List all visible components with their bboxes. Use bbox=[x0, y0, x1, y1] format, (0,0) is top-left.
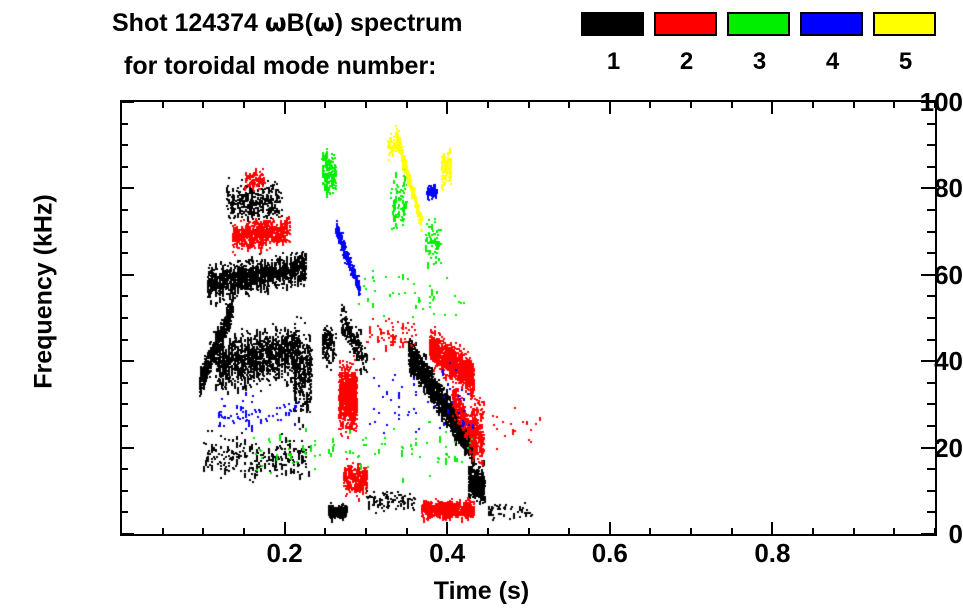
x-tick-minor-top bbox=[528, 100, 530, 108]
y-tick-minor bbox=[120, 231, 128, 233]
y-tick-minor bbox=[120, 209, 128, 211]
x-tick-minor-top bbox=[690, 100, 692, 108]
y-tick-major-80 bbox=[120, 187, 134, 189]
y-tick-major-20 bbox=[120, 447, 134, 449]
x-tick-minor-top bbox=[893, 100, 895, 108]
y-tick-minor-right bbox=[927, 166, 935, 168]
y-tick-major-0 bbox=[120, 533, 134, 535]
x-axis-label: Time (s) bbox=[0, 577, 963, 606]
y-tick-minor-right bbox=[927, 231, 935, 233]
x-tick-minor bbox=[162, 528, 164, 536]
x-tick-major-top-0.2 bbox=[284, 100, 286, 114]
legend-swatch-1 bbox=[581, 12, 644, 36]
y-tick-minor-right bbox=[927, 123, 935, 125]
x-tick-minor-top bbox=[202, 100, 204, 108]
x-tick-minor-top bbox=[934, 100, 936, 108]
x-tick-minor bbox=[528, 528, 530, 536]
legend-swatch-3 bbox=[727, 12, 790, 36]
spectrogram-plot bbox=[122, 102, 935, 534]
x-tick-major-top-0.6 bbox=[609, 100, 611, 114]
y-tick-minor bbox=[120, 382, 128, 384]
y-tick-major-100 bbox=[120, 101, 134, 103]
y-tick-major-60 bbox=[120, 274, 134, 276]
legend-entry-2: 2 bbox=[654, 12, 719, 74]
x-tick-minor-top bbox=[487, 100, 489, 108]
x-tick-label-0.6: 0.6 bbox=[565, 540, 655, 566]
legend-swatch-5 bbox=[873, 12, 936, 36]
mode-number-legend: 12345 bbox=[0, 0, 963, 95]
x-tick-major-top-0.8 bbox=[771, 100, 773, 114]
x-tick-minor bbox=[487, 528, 489, 536]
legend-swatch-2 bbox=[654, 12, 717, 36]
x-tick-minor bbox=[568, 528, 570, 536]
x-tick-major-0.4 bbox=[446, 522, 448, 536]
y-tick-minor-right bbox=[927, 490, 935, 492]
y-tick-label-100: 100 bbox=[855, 89, 963, 115]
y-tick-minor bbox=[120, 339, 128, 341]
y-tick-major-40 bbox=[120, 360, 134, 362]
legend-entry-3: 3 bbox=[727, 12, 792, 74]
x-tick-minor bbox=[202, 528, 204, 536]
x-tick-major-0.8 bbox=[771, 522, 773, 536]
y-tick-minor-right bbox=[927, 317, 935, 319]
x-tick-minor bbox=[649, 528, 651, 536]
x-tick-minor bbox=[365, 528, 367, 536]
x-tick-minor bbox=[731, 528, 733, 536]
x-tick-minor-top bbox=[324, 100, 326, 108]
legend-label-2: 2 bbox=[654, 50, 719, 74]
x-tick-minor-top bbox=[568, 100, 570, 108]
x-tick-label-0.2: 0.2 bbox=[240, 540, 330, 566]
x-tick-minor bbox=[324, 528, 326, 536]
y-tick-label-20: 20 bbox=[855, 435, 963, 461]
x-tick-minor-top bbox=[853, 100, 855, 108]
x-tick-minor bbox=[243, 528, 245, 536]
legend-entry-1: 1 bbox=[581, 12, 646, 74]
y-tick-minor-right bbox=[927, 252, 935, 254]
legend-entry-4: 4 bbox=[800, 12, 865, 74]
legend-label-3: 3 bbox=[727, 50, 792, 74]
legend-swatch-4 bbox=[800, 12, 863, 36]
x-tick-minor bbox=[812, 528, 814, 536]
x-tick-minor bbox=[406, 528, 408, 536]
y-tick-minor bbox=[120, 490, 128, 492]
y-tick-minor bbox=[120, 425, 128, 427]
x-tick-major-top-0.4 bbox=[446, 100, 448, 114]
y-tick-minor bbox=[120, 468, 128, 470]
x-tick-major-0.6 bbox=[609, 522, 611, 536]
x-tick-minor-top bbox=[731, 100, 733, 108]
x-tick-minor-top bbox=[406, 100, 408, 108]
y-tick-minor bbox=[120, 252, 128, 254]
x-tick-label-0.4: 0.4 bbox=[402, 540, 492, 566]
x-tick-minor bbox=[893, 528, 895, 536]
y-tick-label-80: 80 bbox=[855, 175, 963, 201]
legend-label-1: 1 bbox=[581, 50, 646, 74]
y-tick-label-0: 0 bbox=[855, 521, 963, 547]
x-tick-minor-top bbox=[812, 100, 814, 108]
y-tick-minor-right bbox=[927, 425, 935, 427]
y-tick-minor-right bbox=[927, 144, 935, 146]
axis-frame-right bbox=[935, 100, 937, 536]
x-tick-minor-top bbox=[162, 100, 164, 108]
x-tick-minor-top bbox=[243, 100, 245, 108]
x-tick-label-0.8: 0.8 bbox=[727, 540, 817, 566]
y-tick-minor-right bbox=[927, 382, 935, 384]
y-tick-minor bbox=[120, 295, 128, 297]
y-tick-minor-right bbox=[927, 403, 935, 405]
y-axis-label: Frequency (kHz) bbox=[30, 72, 59, 512]
legend-label-5: 5 bbox=[873, 50, 938, 74]
legend-label-4: 4 bbox=[800, 50, 865, 74]
y-tick-minor bbox=[120, 403, 128, 405]
y-tick-minor-right bbox=[927, 339, 935, 341]
y-tick-minor bbox=[120, 144, 128, 146]
y-tick-label-60: 60 bbox=[855, 262, 963, 288]
x-tick-minor-top bbox=[365, 100, 367, 108]
x-tick-minor bbox=[853, 528, 855, 536]
x-tick-minor bbox=[690, 528, 692, 536]
legend-entry-5: 5 bbox=[873, 12, 938, 74]
y-tick-minor bbox=[120, 123, 128, 125]
y-tick-minor-right bbox=[927, 511, 935, 513]
x-tick-major-0.2 bbox=[284, 522, 286, 536]
y-tick-minor-right bbox=[927, 209, 935, 211]
y-tick-minor bbox=[120, 166, 128, 168]
y-tick-minor-right bbox=[927, 468, 935, 470]
y-tick-minor bbox=[120, 317, 128, 319]
y-tick-minor-right bbox=[927, 295, 935, 297]
y-tick-minor bbox=[120, 511, 128, 513]
y-tick-label-40: 40 bbox=[855, 348, 963, 374]
x-tick-minor bbox=[934, 528, 936, 536]
x-tick-minor-top bbox=[649, 100, 651, 108]
